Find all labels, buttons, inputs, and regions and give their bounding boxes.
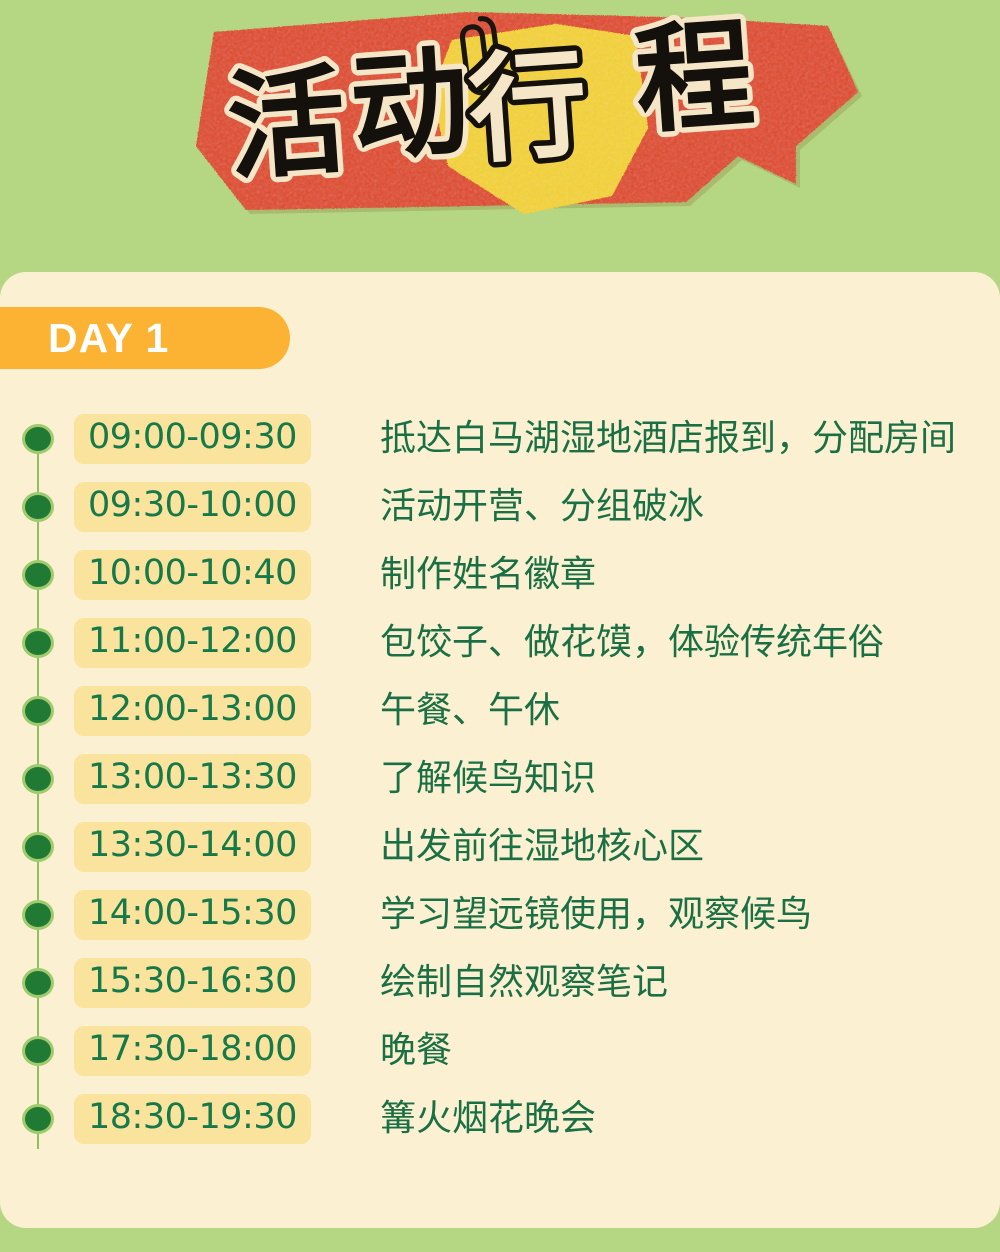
timeline-time: 10:00-10:40	[74, 550, 311, 600]
timeline-time: 12:00-13:00	[74, 686, 311, 736]
title-banner: .ch{font-family:"DejaVu Sans","Liberatio…	[0, 0, 1000, 262]
timeline-dot-icon	[22, 423, 54, 455]
timeline-dot-icon	[22, 559, 54, 591]
timeline-row[interactable]: 09:30-10:00 活动开营、分组破冰	[0, 473, 1000, 541]
day-badge: DAY 1	[0, 307, 290, 369]
timeline-row[interactable]: 10:00-10:40 制作姓名徽章	[0, 541, 1000, 609]
timeline-time: 13:00-13:30	[74, 754, 311, 804]
timeline-time: 17:30-18:00	[74, 1026, 311, 1076]
timeline-description: 晚餐	[380, 1033, 452, 1069]
timeline-dot-icon	[22, 627, 54, 659]
timeline-row[interactable]: 13:30-14:00 出发前往湿地核心区	[0, 813, 1000, 881]
timeline-dot-icon	[22, 831, 54, 863]
timeline-dot-icon	[22, 899, 54, 931]
timeline-description: 活动开营、分组破冰	[380, 489, 704, 525]
day-badge-label: DAY 1	[48, 318, 169, 359]
timeline-time: 15:30-16:30	[74, 958, 311, 1008]
timeline-time: 13:30-14:00	[74, 822, 311, 872]
timeline-time: 09:30-10:00	[74, 482, 311, 532]
timeline-description: 学习望远镜使用，观察候鸟	[380, 897, 812, 933]
timeline-row[interactable]: 09:00-09:30 抵达白马湖湿地酒店报到，分配房间	[0, 405, 1000, 473]
timeline-row[interactable]: 13:00-13:30 了解候鸟知识	[0, 745, 1000, 813]
timeline-description: 午餐、午休	[380, 693, 560, 729]
timeline-description: 抵达白马湖湿地酒店报到，分配房间	[380, 421, 956, 457]
timeline-row[interactable]: 18:30-19:30 篝火烟花晚会	[0, 1085, 1000, 1153]
timeline-row[interactable]: 11:00-12:00 包饺子、做花馍，体验传统年俗	[0, 609, 1000, 677]
timeline-time: 09:00-09:30	[74, 414, 311, 464]
timeline-description: 绘制自然观察笔记	[380, 965, 668, 1001]
timeline-dot-icon	[22, 1103, 54, 1135]
timeline-dot-icon	[22, 763, 54, 795]
timeline-description: 出发前往湿地核心区	[380, 829, 704, 865]
schedule-timeline: 09:00-09:30 抵达白马湖湿地酒店报到，分配房间 09:30-10:00…	[0, 405, 1000, 1153]
timeline-row[interactable]: 14:00-15:30 学习望远镜使用，观察候鸟	[0, 881, 1000, 949]
timeline-dot-icon	[22, 695, 54, 727]
timeline-dot-icon	[22, 1035, 54, 1067]
timeline-description: 制作姓名徽章	[380, 557, 596, 593]
timeline-row[interactable]: 17:30-18:00 晚餐	[0, 1017, 1000, 1085]
timeline-time: 11:00-12:00	[74, 618, 311, 668]
timeline-description: 包饺子、做花馍，体验传统年俗	[380, 625, 884, 661]
timeline-row[interactable]: 15:30-16:30 绘制自然观察笔记	[0, 949, 1000, 1017]
timeline-row[interactable]: 12:00-13:00 午餐、午休	[0, 677, 1000, 745]
timeline-description: 了解候鸟知识	[380, 761, 596, 797]
timeline-dot-icon	[22, 491, 54, 523]
timeline-time: 18:30-19:30	[74, 1094, 311, 1144]
timeline-time: 14:00-15:30	[74, 890, 311, 940]
timeline-description: 篝火烟花晚会	[380, 1101, 596, 1137]
timeline-dot-icon	[22, 967, 54, 999]
